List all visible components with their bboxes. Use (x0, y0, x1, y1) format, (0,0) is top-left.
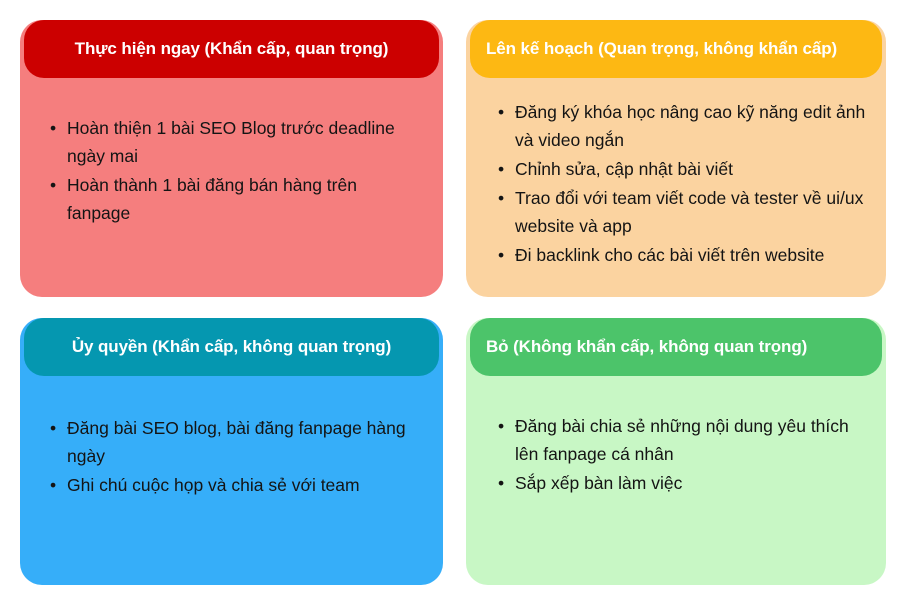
bullet-icon: • (50, 414, 56, 442)
list-item-label: Hoàn thành 1 bài đăng bán hàng trên fanp… (67, 175, 357, 223)
list-item-label: Sắp xếp bàn làm việc (515, 473, 682, 493)
eisenhower-matrix: Thực hiện ngay (Khẩn cấp, quan trọng) • … (0, 0, 900, 600)
list-item-label: Trao đổi với team viết code và tester về… (515, 188, 863, 236)
list-item-label: Đăng bài SEO blog, bài đăng fanpage hàng… (67, 418, 406, 466)
quadrant-list-plan: • Đăng ký khóa học nâng cao kỹ năng edit… (466, 20, 886, 270)
bullet-icon: • (498, 469, 504, 497)
list-item-label: Hoàn thiện 1 bài SEO Blog trước deadline… (67, 118, 395, 166)
bullet-icon: • (498, 241, 504, 269)
bullet-icon: • (50, 114, 56, 142)
bullet-icon: • (50, 171, 56, 199)
list-item: • Đăng bài chia sẻ những nội dung yêu th… (496, 412, 872, 468)
bullet-icon: • (50, 471, 56, 499)
list-item: • Sắp xếp bàn làm việc (496, 469, 872, 497)
quadrant-list-delegate: • Đăng bài SEO blog, bài đăng fanpage hà… (20, 318, 443, 500)
quadrant-list-drop: • Đăng bài chia sẻ những nội dung yêu th… (466, 318, 886, 498)
bullet-icon: • (498, 412, 504, 440)
list-item: • Đăng bài SEO blog, bài đăng fanpage hà… (48, 414, 425, 470)
quadrant-plan: Lên kế hoạch (Quan trọng, không khẩn cấp… (466, 20, 886, 297)
list-item: • Hoàn thiện 1 bài SEO Blog trước deadli… (48, 114, 425, 170)
list-item: • Đi backlink cho các bài viết trên webs… (496, 241, 872, 269)
list-item-label: Đi backlink cho các bài viết trên websit… (515, 245, 824, 265)
quadrant-do-now: Thực hiện ngay (Khẩn cấp, quan trọng) • … (20, 20, 443, 297)
list-item-label: Đăng ký khóa học nâng cao kỹ năng edit ả… (515, 102, 865, 150)
quadrant-delegate: Ủy quyền (Khẩn cấp, không quan trọng) • … (20, 318, 443, 585)
list-item-label: Chỉnh sửa, cập nhật bài viết (515, 159, 733, 179)
list-item: • Ghi chú cuộc họp và chia sẻ với team (48, 471, 425, 499)
quadrant-list-do-now: • Hoàn thiện 1 bài SEO Blog trước deadli… (20, 20, 443, 228)
list-item: • Chỉnh sửa, cập nhật bài viết (496, 155, 872, 183)
list-item: • Hoàn thành 1 bài đăng bán hàng trên fa… (48, 171, 425, 227)
list-item: • Đăng ký khóa học nâng cao kỹ năng edit… (496, 98, 872, 154)
quadrant-drop: Bỏ (Không khẩn cấp, không quan trọng) • … (466, 318, 886, 585)
bullet-icon: • (498, 184, 504, 212)
list-item-label: Đăng bài chia sẻ những nội dung yêu thíc… (515, 416, 849, 464)
list-item-label: Ghi chú cuộc họp và chia sẻ với team (67, 475, 360, 495)
list-item: • Trao đổi với team viết code và tester … (496, 184, 872, 240)
bullet-icon: • (498, 98, 504, 126)
bullet-icon: • (498, 155, 504, 183)
